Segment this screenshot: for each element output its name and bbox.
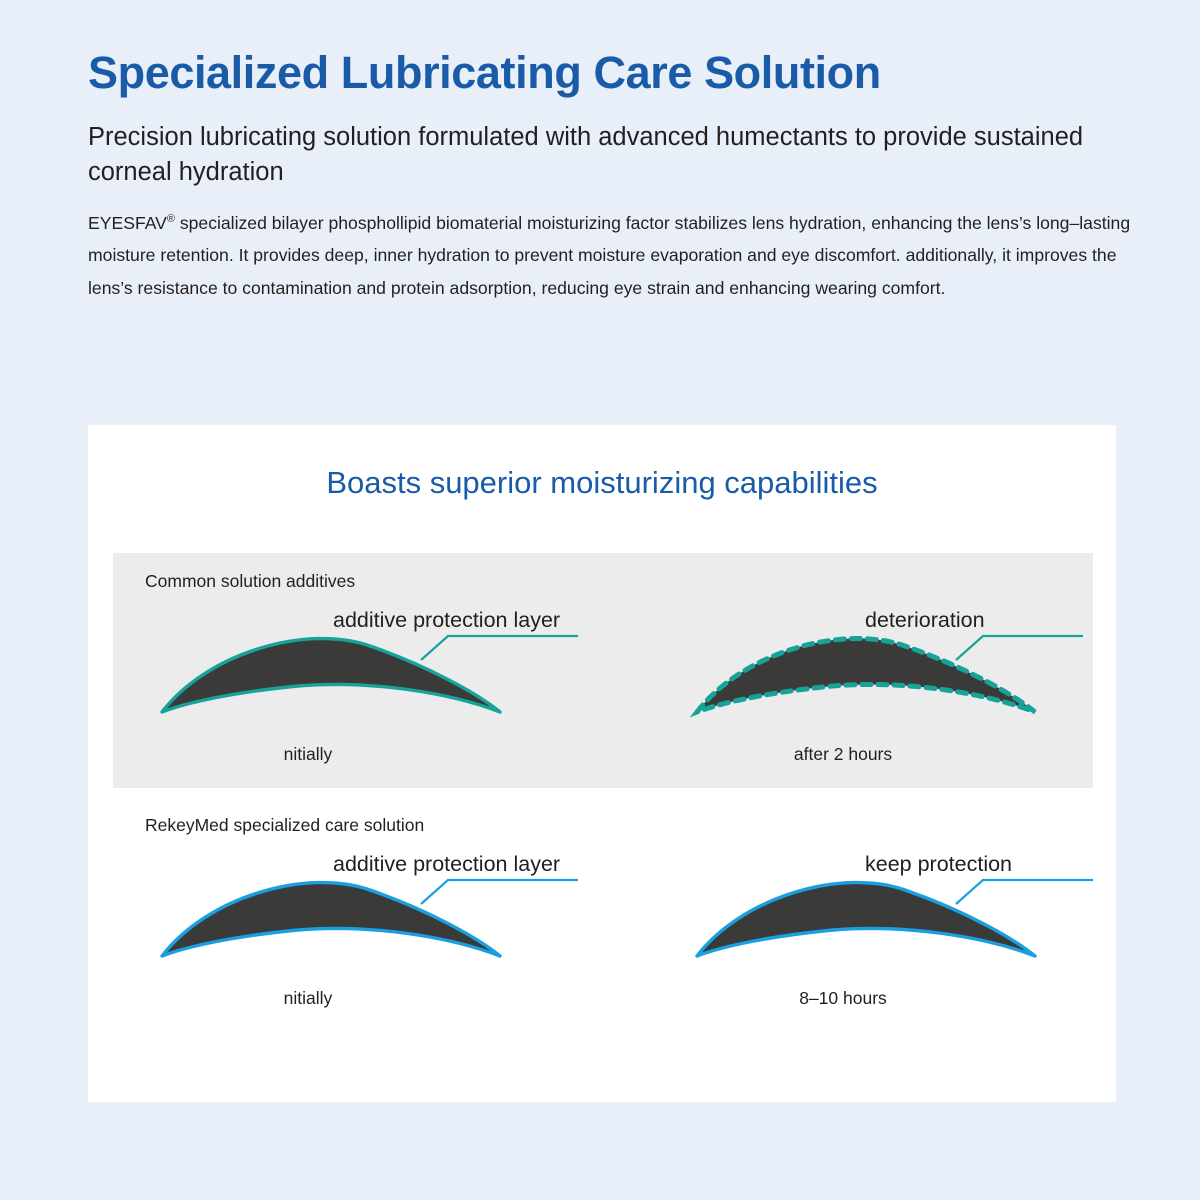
lens-crescent-shape-dashed [697, 639, 1035, 712]
figure-common-after-2-hours: deterioration after 2 hours [683, 608, 1138, 783]
page-header: Specialized Lubricating Care Solution Pr… [88, 48, 1148, 304]
callout-leader-line [956, 880, 1093, 904]
page-body-paragraph: EYESFAV® specialized bilayer phosphollip… [88, 207, 1133, 305]
card-heading: Boasts superior moisturizing capabilitie… [88, 465, 1116, 501]
lens-crescent-shape [697, 883, 1035, 956]
page-title: Specialized Lubricating Care Solution [88, 48, 1148, 98]
panel-label-common: Common solution additives [145, 571, 355, 592]
callout-label-deterioration: deterioration [865, 608, 985, 633]
figure-common-initial: additive protection layer nitially [148, 608, 603, 783]
caption-common-initial: nitially [148, 744, 468, 765]
body-text: specialized bilayer phosphollipid biomat… [88, 213, 1130, 298]
callout-label-keep-protection: keep protection [865, 852, 1012, 877]
brand-name: EYESFAV [88, 213, 167, 233]
lens-crescent-shape [162, 639, 500, 712]
callout-leader-line [421, 636, 578, 660]
panel-label-rekeymed: RekeyMed specialized care solution [145, 815, 424, 836]
panel-rekeymed-solution: RekeyMed specialized care solution addit… [113, 797, 1093, 1032]
figure-rekey-8-10-hours: keep protection 8–10 hours [683, 852, 1138, 1027]
callout-leader-line [421, 880, 578, 904]
figure-rekey-initial: additive protection layer nitially [148, 852, 603, 1027]
registered-mark-icon: ® [167, 213, 175, 225]
callout-label-common-initial: additive protection layer [333, 608, 560, 633]
callout-label-rekey-initial: additive protection layer [333, 852, 560, 877]
caption-8-10-hours: 8–10 hours [683, 988, 1003, 1009]
page-subtitle: Precision lubricating solution formulate… [88, 120, 1144, 188]
caption-after-2-hours: after 2 hours [683, 744, 1003, 765]
caption-rekey-initial: nitially [148, 988, 468, 1009]
callout-leader-line [956, 636, 1083, 660]
panel-common-solution: Common solution additives additive prote… [113, 553, 1093, 788]
feature-card: Boasts superior moisturizing capabilitie… [88, 425, 1116, 1102]
lens-crescent-shape [162, 883, 500, 956]
